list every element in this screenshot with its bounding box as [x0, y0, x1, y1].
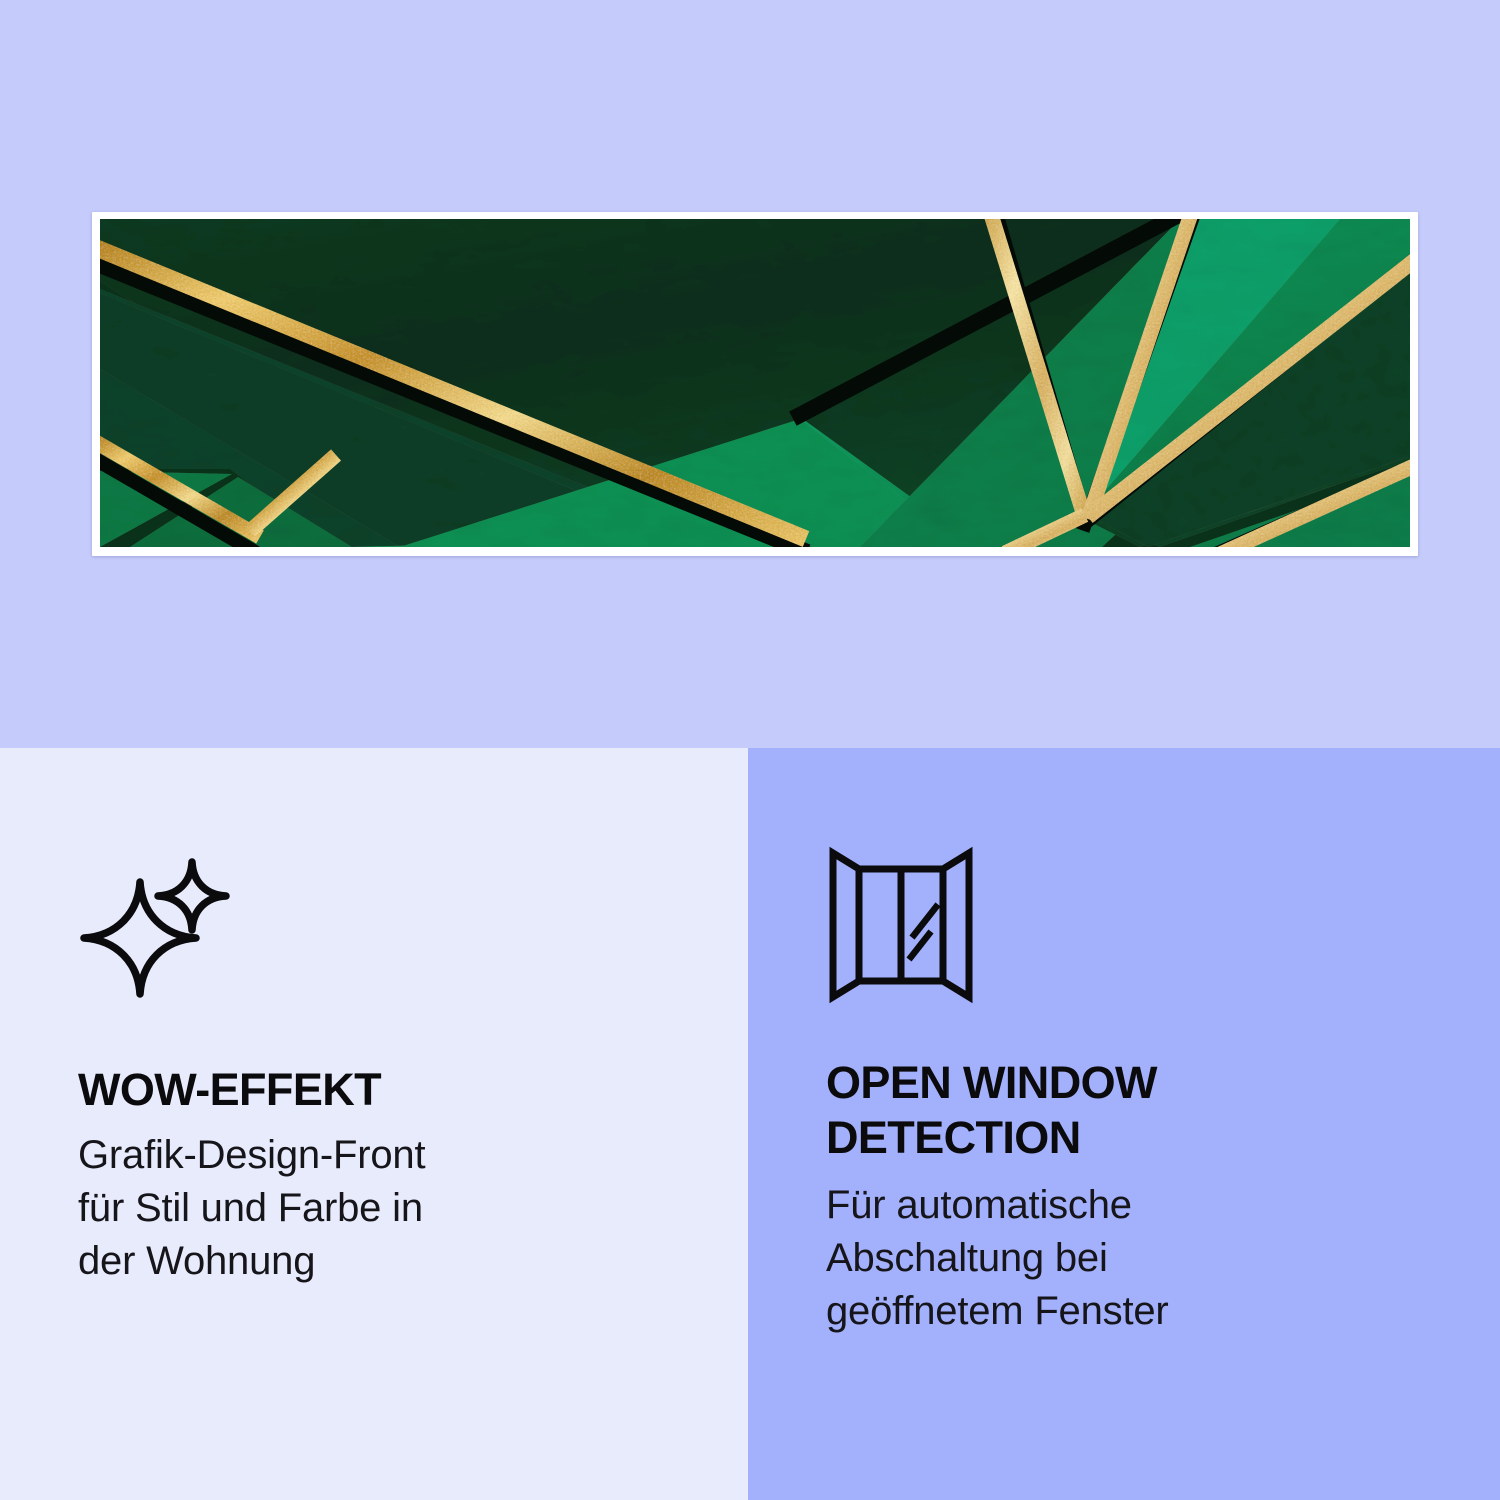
feature-title: WOW-EFFEKT [78, 1062, 678, 1117]
open-window-icon [826, 845, 976, 1005]
product-feature-graphic: WOW-EFFEKT Grafik-Design-Front für Stil … [0, 0, 1500, 1500]
feature-text-open-window-detection: OPEN WINDOW DETECTION Für automatische A… [826, 1055, 1446, 1338]
sparkle-icon [78, 852, 238, 1002]
artwork-viewport [100, 219, 1410, 547]
feature-text-wow-effekt: WOW-EFFEKT Grafik-Design-Front für Stil … [78, 1062, 678, 1288]
feature-body: Für automatische Abschaltung bei geöffne… [826, 1179, 1446, 1338]
feature-title: OPEN WINDOW DETECTION [826, 1055, 1446, 1165]
hero-section [0, 0, 1500, 748]
product-frame [92, 212, 1418, 556]
feature-body: Grafik-Design-Front für Stil und Farbe i… [78, 1129, 678, 1288]
green-gold-geometric-artwork [100, 219, 1410, 547]
